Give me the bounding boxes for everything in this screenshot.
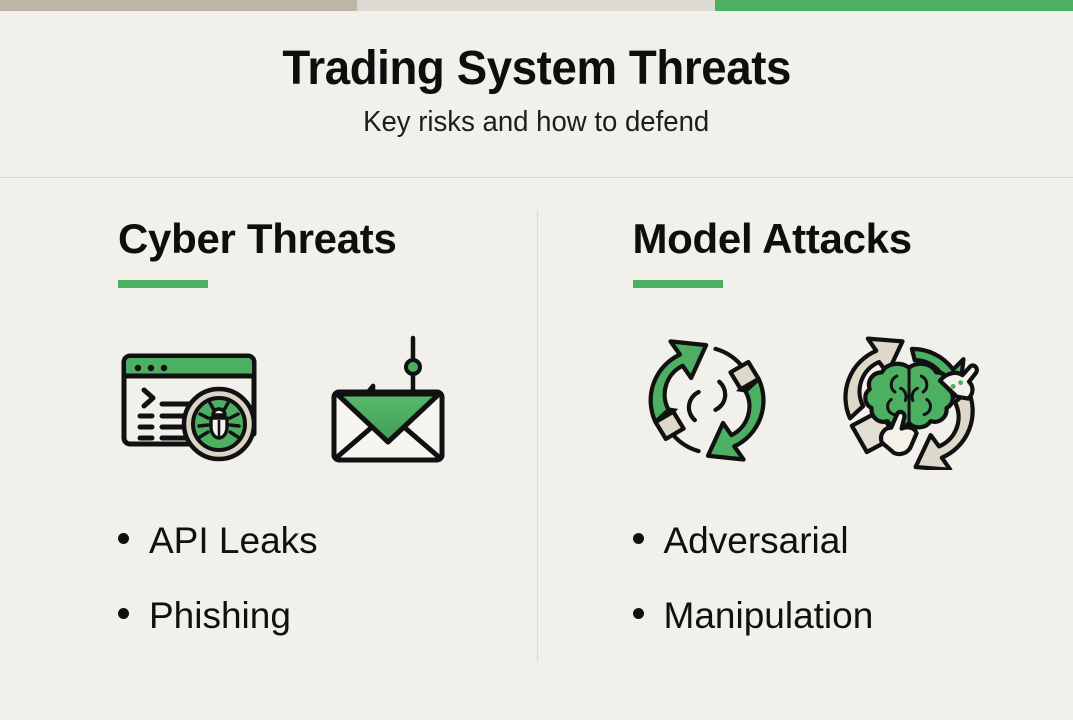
browser-terminal-bug-icon	[118, 330, 268, 470]
bullet-dot-icon	[118, 533, 129, 544]
column-heading-cyber-threats: Cyber Threats	[118, 218, 537, 260]
icon-row-left	[118, 330, 537, 470]
adversarial-arrows-icon	[633, 330, 783, 470]
list-item: Adversarial	[633, 522, 1073, 559]
list-item: Manipulation	[633, 597, 1073, 634]
column-heading-model-attacks: Model Attacks	[633, 218, 1073, 260]
phishing-hook-envelope-icon	[320, 330, 456, 470]
bullet-label: Phishing	[149, 597, 291, 634]
column-divider	[537, 210, 538, 662]
brain-manipulation-icon	[835, 330, 985, 470]
slide-root: Trading System Threats Key risks and how…	[0, 0, 1073, 720]
header: Trading System Threats Key risks and how…	[0, 11, 1073, 177]
bullet-dot-icon	[118, 608, 129, 619]
column-accent-bar-left	[118, 280, 208, 288]
bullet-list-model-attacks: Adversarial Manipulation	[633, 522, 1073, 634]
bullet-list-cyber-threats: API Leaks Phishing	[118, 522, 537, 634]
bullet-label: Adversarial	[664, 522, 849, 559]
bullet-dot-icon	[633, 608, 644, 619]
bullet-label: Manipulation	[664, 597, 874, 634]
bullet-label: API Leaks	[149, 522, 318, 559]
top-accent-segment-khaki	[0, 0, 357, 11]
list-item: Phishing	[118, 597, 537, 634]
list-item: API Leaks	[118, 522, 537, 559]
top-accent-bar	[0, 0, 1073, 11]
top-accent-segment-green	[715, 0, 1073, 11]
page-subtitle: Key risks and how to defend	[363, 107, 709, 139]
column-accent-bar-right	[633, 280, 723, 288]
column-cyber-threats: Cyber Threats	[0, 178, 537, 720]
icon-row-right	[633, 330, 1073, 470]
page-title: Trading System Threats	[282, 43, 791, 95]
bullet-dot-icon	[633, 533, 644, 544]
column-model-attacks: Model Attacks	[537, 178, 1073, 720]
top-accent-segment-grey	[357, 0, 715, 11]
